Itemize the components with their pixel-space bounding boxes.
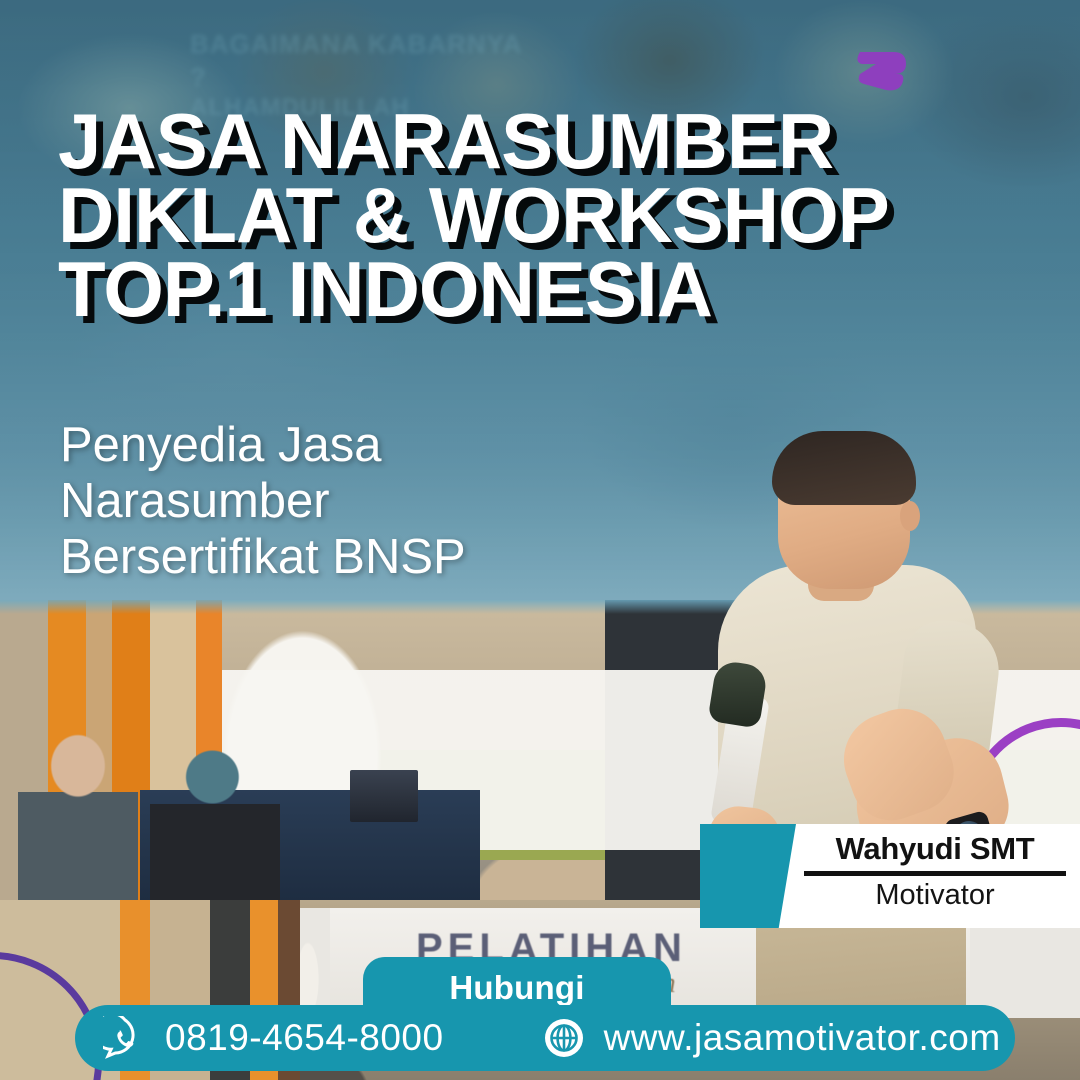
speaker-ear — [900, 501, 920, 531]
name-card-divider — [804, 871, 1066, 876]
contact-bar: 0819-4654-8000 www.jasamotivator.com — [75, 1005, 1015, 1071]
name-card-content: Wahyudi SMT Motivator — [804, 830, 1066, 913]
participant-figure-center — [150, 750, 280, 900]
speaker-role: Motivator — [804, 878, 1066, 913]
headline-line-1: JASA NARASUMBER — [58, 104, 998, 178]
whatsapp-contact[interactable]: 0819-4654-8000 — [103, 1016, 444, 1060]
website-url: www.jasamotivator.com — [604, 1017, 1001, 1059]
subheadline: Penyedia Jasa Narasumber Bersertifikat B… — [60, 418, 620, 586]
name-card-teal-wedge — [700, 824, 796, 928]
whatsapp-icon — [103, 1016, 147, 1060]
headline-line-3: TOP.1 INDONESIA — [58, 252, 998, 326]
subheadline-line-1: Penyedia Jasa — [60, 418, 620, 474]
subheadline-line-2: Narasumber — [60, 474, 620, 530]
hubungi-label: Hubungi — [449, 969, 584, 1007]
wing-logo-icon — [854, 38, 912, 94]
headline: JASA NARASUMBER DIKLAT & WORKSHOP TOP.1 … — [58, 104, 998, 326]
poster-canvas: BAGAIMANA KABARNYA ? ALHAMDULILLAH PELAT… — [0, 0, 1080, 1080]
microphone-windscreen — [707, 659, 768, 728]
speaker-hair — [772, 431, 916, 505]
globe-icon — [542, 1016, 586, 1060]
speaker-name: Wahyudi SMT — [804, 830, 1066, 869]
speaker-name-card: Wahyudi SMT Motivator — [700, 824, 1080, 928]
subheadline-line-3: Bersertifikat BNSP — [60, 530, 620, 586]
laptop-prop — [350, 770, 418, 822]
headline-line-2: DIKLAT & WORKSHOP — [58, 178, 998, 252]
participant-figure-left — [18, 728, 138, 900]
whatsapp-number: 0819-4654-8000 — [165, 1017, 444, 1059]
website-contact[interactable]: www.jasamotivator.com — [542, 1016, 1001, 1060]
